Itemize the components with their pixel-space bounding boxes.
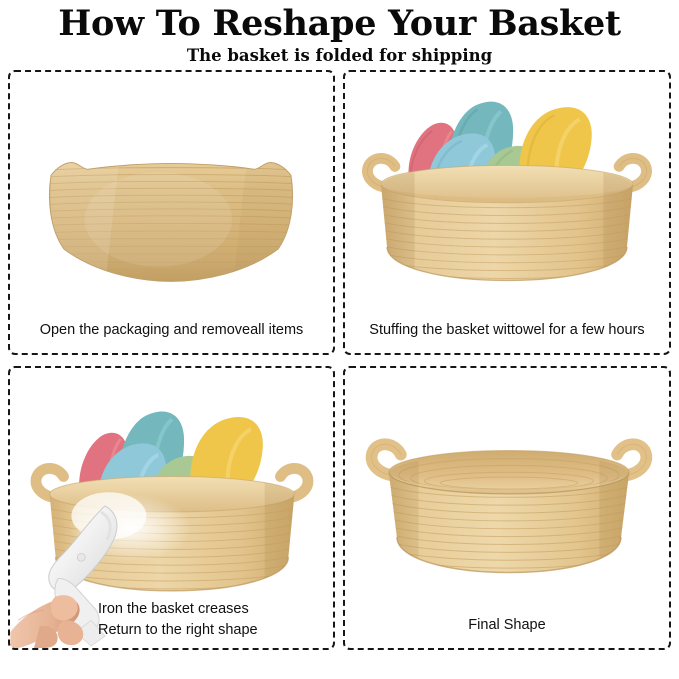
instruction-panel-step-2: Stuffing the basket wittowel for a few h…	[343, 70, 671, 355]
panel-1-caption: Open the packaging and removeall items	[10, 307, 333, 353]
basket-stuffed-with-towels-illustration	[345, 72, 669, 307]
instruction-panel-grid: Open the packaging and removeall items	[8, 70, 671, 650]
page-title: How To Reshape Your Basket	[0, 0, 679, 44]
caption-line: Open the packaging and removeall items	[40, 320, 304, 341]
empty-finished-basket-illustration	[345, 368, 669, 602]
caption-line: Iron the basket creases	[98, 599, 249, 620]
panel-2-caption: Stuffing the basket wittowel for a few h…	[345, 307, 669, 353]
instruction-panel-step-1: Open the packaging and removeall items	[8, 70, 335, 355]
panel-3-caption: Iron the basket creases Return to the ri…	[10, 592, 333, 648]
caption-line: Stuffing the basket wittowel for a few h…	[369, 320, 644, 341]
page-subtitle: The basket is folded for shipping	[0, 44, 679, 66]
instruction-panel-step-4: Final Shape	[343, 366, 671, 650]
caption-line: Return to the right shape	[98, 620, 258, 641]
caption-line: Final Shape	[468, 615, 545, 636]
page-header: How To Reshape Your Basket The basket is…	[0, 0, 679, 68]
folded-flat-basket-illustration	[10, 72, 333, 307]
instruction-panel-step-3: Iron the basket creases Return to the ri…	[8, 366, 335, 650]
panel-4-caption: Final Shape	[345, 602, 669, 648]
